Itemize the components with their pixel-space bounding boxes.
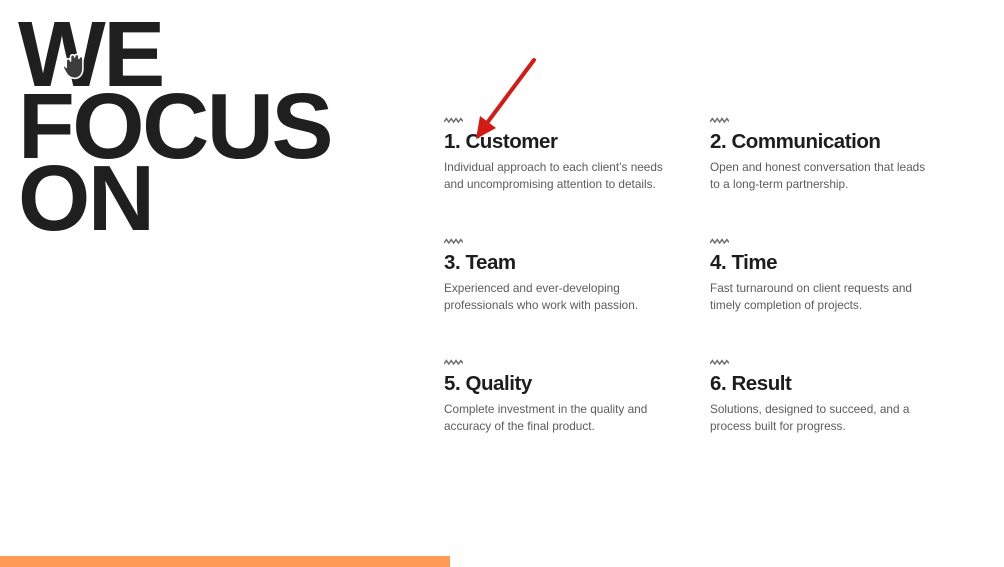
- list-item: 4. Time Fast turnaround on client reques…: [710, 237, 964, 358]
- page-title: WE FOCUS ON: [18, 4, 418, 234]
- zigzag-wave-icon: [444, 237, 463, 246]
- list-item-title: 3. Team: [444, 251, 710, 274]
- list-item: 1. Customer Individual approach to each …: [444, 116, 710, 237]
- list-item-title: 5. Quality: [444, 372, 710, 395]
- list-item-description: Solutions, designed to succeed, and a pr…: [710, 401, 938, 435]
- list-item-title: 6. Result: [710, 372, 964, 395]
- list-item-description: Open and honest conversation that leads …: [710, 159, 938, 193]
- list-item-description: Individual approach to each client’s nee…: [444, 159, 684, 193]
- list-item-description: Complete investment in the quality and a…: [444, 401, 684, 435]
- list-item-title: 1. Customer: [444, 130, 710, 153]
- zigzag-wave-icon: [710, 237, 729, 246]
- list-item-description: Fast turnaround on client requests and t…: [710, 280, 938, 314]
- zigzag-wave-icon: [444, 358, 463, 367]
- list-item: 6. Result Solutions, designed to succeed…: [710, 358, 964, 479]
- list-item: 2. Communication Open and honest convers…: [710, 116, 964, 237]
- zigzag-wave-icon: [710, 116, 729, 125]
- bottom-accent-bar: [0, 556, 450, 567]
- zigzag-wave-icon: [710, 358, 729, 367]
- list-item-title: 4. Time: [710, 251, 964, 274]
- list-item: 3. Team Experienced and ever-developing …: [444, 237, 710, 358]
- list-item-title: 2. Communication: [710, 130, 964, 153]
- list-item-description: Experienced and ever-developing professi…: [444, 280, 684, 314]
- feature-list: 1. Customer Individual approach to each …: [444, 116, 964, 479]
- list-item: 5. Quality Complete investment in the qu…: [444, 358, 710, 479]
- zigzag-wave-icon: [444, 116, 463, 125]
